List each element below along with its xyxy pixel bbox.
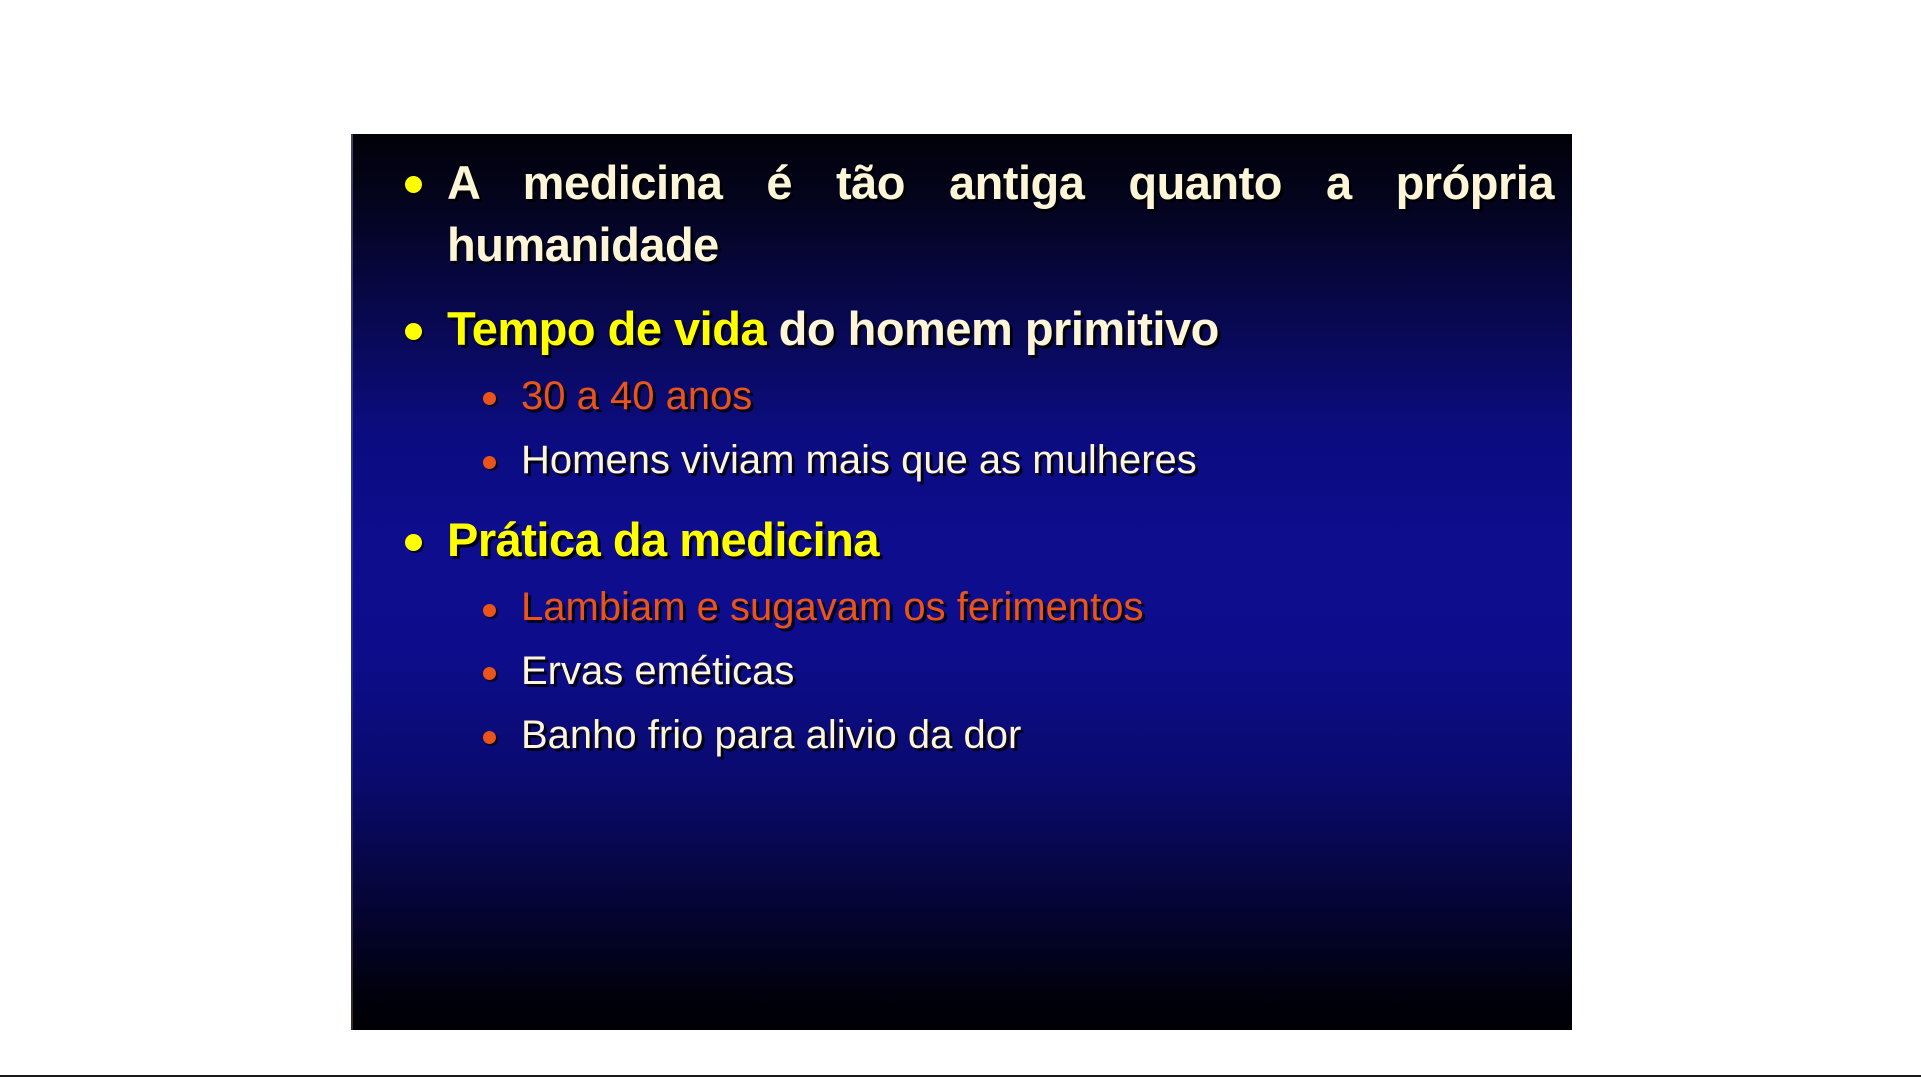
yellow-dot-bullet-icon xyxy=(405,534,422,551)
slide-page: A medicina é tão antiga quanto a própria… xyxy=(0,0,1921,1081)
bullet-text-remainder: do homem primitivo xyxy=(766,302,1219,355)
orange-dot-bullet-icon xyxy=(483,731,496,744)
page-footer-divider xyxy=(0,1075,1921,1077)
bullet-item-banho-frio: Banho frio para alivio da dor xyxy=(379,709,1554,763)
bullet-item-medicina-antiga: A medicina é tão antiga quanto a própria… xyxy=(379,152,1554,276)
yellow-dot-bullet-icon xyxy=(405,176,422,193)
bullet-text: Banho frio para alivio da dor xyxy=(521,713,1021,757)
bullet-item-lambiam-e-sugavam: Lambiam e sugavam os ferimentos xyxy=(379,581,1554,635)
bullet-text: Tempo de vida do homem primitivo xyxy=(447,298,1554,360)
bullet-text-emphasis: Tempo de vida xyxy=(447,302,766,355)
bullet-text: Prática da medicina xyxy=(447,509,1554,571)
bullet-list: A medicina é tão antiga quanto a própria… xyxy=(351,134,1572,766)
bullet-item-homens-viviam-mais: Homens viviam mais que as mulheres xyxy=(379,434,1554,488)
yellow-dot-bullet-icon xyxy=(405,323,422,340)
bullet-item-ervas-emeticas: Ervas eméticas xyxy=(379,645,1554,699)
orange-dot-bullet-icon xyxy=(483,604,496,617)
bullet-text: 30 a 40 anos xyxy=(521,374,752,418)
orange-dot-bullet-icon xyxy=(483,667,496,680)
bullet-text: Ervas eméticas xyxy=(521,649,794,693)
orange-dot-bullet-icon xyxy=(483,392,496,405)
bullet-text: Homens viviam mais que as mulheres xyxy=(521,438,1197,482)
bullet-item-pratica-da-medicina: Prática da medicina xyxy=(379,509,1554,571)
bullet-text: Lambiam e sugavam os ferimentos xyxy=(521,585,1144,629)
bullet-item-30-a-40-anos: 30 a 40 anos xyxy=(379,370,1554,424)
orange-dot-bullet-icon xyxy=(483,456,496,469)
bullet-text: A medicina é tão antiga quanto a própria… xyxy=(447,152,1554,276)
presentation-slide: A medicina é tão antiga quanto a própria… xyxy=(351,134,1572,1030)
bullet-item-tempo-de-vida: Tempo de vida do homem primitivo xyxy=(379,298,1554,360)
